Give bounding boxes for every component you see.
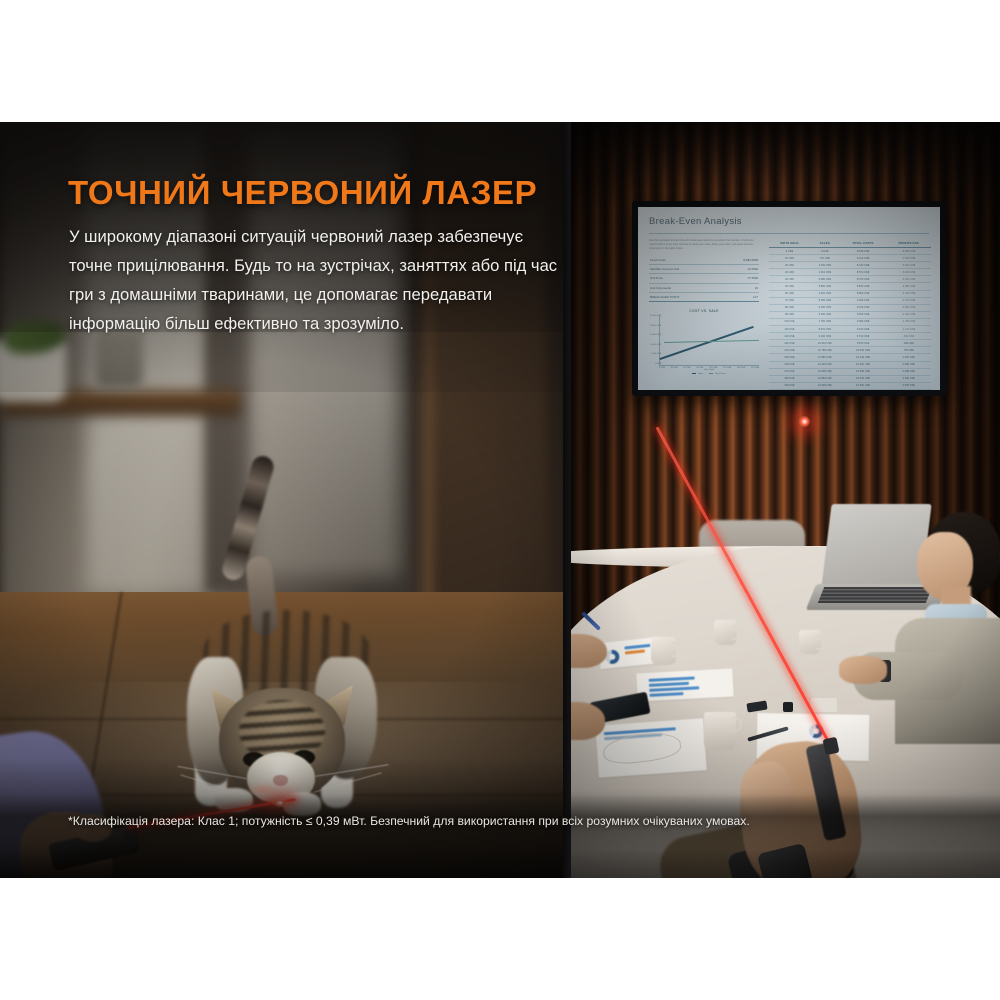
table-cell: -3 062 US$ [886, 304, 931, 311]
slide-intro-text: Use this calculator to determine the bre… [649, 239, 759, 251]
input-row: Unit Price 77 RSD [649, 274, 759, 283]
table-cell: 9 222 US$ [840, 304, 886, 311]
table-cell: 8 182 US$ [840, 248, 886, 255]
document-bar-sheet [636, 669, 733, 702]
table-cell: 130 US$ [769, 340, 810, 347]
coffee-mug [714, 620, 737, 645]
slide-divider [649, 233, 929, 234]
table-cell: 2 310 US$ [810, 269, 840, 276]
legend-item: Total Costs [709, 373, 725, 375]
table-cell: 0 US$ [769, 248, 810, 255]
input-label: BREAK-EVEN POINT [650, 295, 679, 299]
input-row: Fixed Costs 8,182 RSD [649, 256, 759, 265]
body-paragraph: У широкому діапазоні ситуацій червоний л… [69, 222, 561, 338]
break-even-inputs: Fixed Costs 8,182 RSD Variable Cost per … [649, 256, 759, 302]
table-cell: 10 782 US$ [840, 389, 886, 390]
x-tick: 90 US$ [696, 367, 703, 369]
eraser [811, 698, 837, 712]
table-cell: 120 US$ [769, 333, 810, 340]
table-row: 140 US$10 780 US$10 002 US$778 US$ [769, 347, 931, 354]
chart-plot-area [659, 315, 759, 366]
x-tick: 60 US$ [683, 367, 690, 369]
table-cell: -1 782 US$ [886, 318, 931, 325]
table-cell: 10 010 US$ [810, 340, 840, 347]
table-row: 170 US$13 090 US$10 392 US$2 698 US$ [769, 368, 931, 375]
table-cell: 200 US$ [769, 389, 810, 390]
table-cell: 6 930 US$ [810, 311, 840, 318]
input-row: Variable Cost per Unit 13 RSD [649, 265, 759, 274]
table-cell: 7 700 US$ [810, 318, 840, 325]
table-cell: 10 262 US$ [840, 361, 886, 368]
bar-chart-line [649, 676, 695, 681]
table-cell: 140 US$ [769, 347, 810, 354]
table-row: 160 US$12 320 US$10 262 US$2 058 US$ [769, 361, 931, 368]
table-cell: 90 US$ [769, 311, 810, 318]
table-header-row: UNITS SOLD SALES TOTAL COSTS PROFIT/LOSS [769, 239, 931, 248]
table-cell: 12 320 US$ [810, 361, 840, 368]
table-cell: 160 US$ [769, 361, 810, 368]
table-cell: -5 622 US$ [886, 276, 931, 283]
table-cell: -8 182 US$ [886, 248, 931, 255]
table-cell: 10 US$ [769, 255, 810, 262]
table-cell: 14 630 US$ [810, 382, 840, 389]
table-cell: -1 142 US$ [886, 326, 931, 333]
table-row: 0 US$0 US$8 182 US$-8 182 US$ [769, 248, 931, 255]
table-cell: -6 262 US$ [886, 269, 931, 276]
table-cell: 60 US$ [769, 290, 810, 297]
table-cell: 3 978 US$ [886, 382, 931, 389]
table-cell: 9 240 US$ [810, 333, 840, 340]
input-label: Unit Increments [650, 286, 671, 290]
table-cell: 180 US$ [769, 375, 810, 382]
table-cell: -7 542 US$ [886, 255, 931, 262]
screen-content: Break-Even Analysis Use this calculator … [638, 207, 940, 390]
coffee-mug [799, 630, 821, 654]
table-cell: 8 442 US$ [840, 262, 886, 269]
table-cell: 9 092 US$ [840, 297, 886, 304]
input-label: Variable Cost per Unit [650, 267, 679, 271]
table-cell: 10 652 US$ [840, 382, 886, 389]
table-cell: 150 US$ [769, 354, 810, 361]
input-value: 127 [753, 295, 758, 299]
page-root: Break-Even Analysis Use this calculator … [0, 0, 1000, 1000]
table-cell: 9 742 US$ [840, 333, 886, 340]
table-row: 20 US$1 540 US$8 442 US$-6 902 US$ [769, 262, 931, 269]
table-row: 80 US$6 160 US$9 222 US$-3 062 US$ [769, 304, 931, 311]
chart-x-label: Units Sold [659, 369, 759, 371]
series-line-total-costs [664, 340, 759, 343]
x-tick: 210 US$ [751, 367, 759, 369]
laser-emitter-tip [822, 737, 839, 756]
table-cell: 1 540 US$ [810, 262, 840, 269]
slide-title: Break-Even Analysis [649, 216, 929, 227]
x-tick: 30 US$ [671, 367, 678, 369]
bar-chart-line [624, 644, 650, 649]
table-body: 0 US$0 US$8 182 US$-8 182 US$10 US$770 U… [769, 248, 931, 391]
input-label: Unit Price [650, 276, 663, 280]
attendee-hands [839, 656, 887, 684]
table-cell: 9 482 US$ [840, 318, 886, 325]
input-value: 13 RSD [747, 267, 758, 271]
table-row: 40 US$3 080 US$8 702 US$-5 622 US$ [769, 276, 931, 283]
table-row: 190 US$14 630 US$10 652 US$3 978 US$ [769, 382, 931, 389]
bar-chart-line [649, 692, 683, 696]
x-tick: 150 US$ [723, 367, 731, 369]
table-cell: 8 470 US$ [810, 326, 840, 333]
table-cell: 3 850 US$ [810, 283, 840, 290]
table-cell: 8 312 US$ [840, 255, 886, 262]
x-tick: 0 US$ [659, 367, 665, 369]
legend-item: Sales [692, 373, 703, 375]
table-cell: 10 780 US$ [810, 347, 840, 354]
chart-title: COST VS. SALE [649, 309, 759, 313]
table-cell: 110 US$ [769, 326, 810, 333]
laser-safety-footnote: *Класифікація лазера: Клас 1; потужність… [68, 814, 948, 828]
break-even-table: UNITS SOLD SALES TOTAL COSTS PROFIT/LOSS… [769, 239, 931, 390]
col-total-costs: TOTAL COSTS [840, 239, 886, 248]
table-cell: 11 550 US$ [810, 354, 840, 361]
table-cell: 6 160 US$ [810, 304, 840, 311]
table-row: 90 US$6 930 US$9 352 US$-2 422 US$ [769, 311, 931, 318]
table-cell: -4 982 US$ [886, 283, 931, 290]
table-cell: -6 902 US$ [886, 262, 931, 269]
table-cell: 70 US$ [769, 297, 810, 304]
table-cell: 770 US$ [810, 255, 840, 262]
table-row: 50 US$3 850 US$8 832 US$-4 982 US$ [769, 283, 931, 290]
chart-legend: Sales Total Costs [659, 373, 759, 375]
table-cell: -4 342 US$ [886, 290, 931, 297]
table-cell: 10 522 US$ [840, 375, 886, 382]
presentation-screen: Break-Even Analysis Use this calculator … [632, 201, 946, 396]
series-line-sales [660, 326, 754, 360]
break-even-point-row: BREAK-EVEN POINT 127 [649, 293, 759, 302]
table-cell: -2 422 US$ [886, 311, 931, 318]
table-cell: 10 002 US$ [840, 347, 886, 354]
col-units-sold: UNITS SOLD [769, 239, 810, 248]
table-cell: 8 572 US$ [840, 269, 886, 276]
table-cell: 9 352 US$ [840, 311, 886, 318]
input-value: 77 RSD [747, 276, 758, 280]
table-row: 120 US$9 240 US$9 742 US$-502 US$ [769, 333, 931, 340]
table-cell: 8 832 US$ [840, 283, 886, 290]
table-cell: 15 400 US$ [810, 389, 840, 390]
table-cell: 9 612 US$ [840, 326, 886, 333]
ceiling-shadow [571, 122, 1000, 212]
table-cell: 8 962 US$ [840, 290, 886, 297]
table-cell: 13 090 US$ [810, 368, 840, 375]
x-tick: 180 US$ [737, 367, 745, 369]
table-row: 130 US$10 010 US$9 872 US$138 US$ [769, 340, 931, 347]
table-cell: 138 US$ [886, 340, 931, 347]
right-scene-meeting-room: Break-Even Analysis Use this calculator … [571, 122, 1000, 878]
input-label: Fixed Costs [650, 258, 666, 262]
bottom-shadow-overlay [571, 788, 1000, 878]
table-row: 200 US$15 400 US$10 782 US$4 618 US$ [769, 389, 931, 390]
bar-chart-line [625, 649, 645, 654]
table-cell: -3 702 US$ [886, 297, 931, 304]
table-row: 110 US$8 470 US$9 612 US$-1 142 US$ [769, 326, 931, 333]
table-row: 10 US$770 US$8 312 US$-7 542 US$ [769, 255, 931, 262]
table-cell: 0 US$ [810, 248, 840, 255]
input-value: 10 [755, 286, 758, 290]
small-clip [783, 702, 793, 712]
table-cell: -502 US$ [886, 333, 931, 340]
table-cell: 4 620 US$ [810, 290, 840, 297]
table-row: 100 US$7 700 US$9 482 US$-1 782 US$ [769, 318, 931, 325]
table-cell: 190 US$ [769, 382, 810, 389]
table-cell: 3 338 US$ [886, 375, 931, 382]
table-row: 180 US$13 860 US$10 522 US$3 338 US$ [769, 375, 931, 382]
table-cell: 4 618 US$ [886, 389, 931, 390]
table-row: 30 US$2 310 US$8 572 US$-6 262 US$ [769, 269, 931, 276]
table-cell: 778 US$ [886, 347, 931, 354]
table-cell: 10 132 US$ [840, 354, 886, 361]
coffee-mug [704, 712, 736, 750]
table-cell: 30 US$ [769, 269, 810, 276]
table-cell: 20 US$ [769, 262, 810, 269]
table-cell: 2 058 US$ [886, 361, 931, 368]
cost-vs-sale-chart: COST VS. SALE 25 000 US$ 20 000 US$ 15 0… [649, 309, 759, 375]
table-cell: 1 418 US$ [886, 354, 931, 361]
page-title: ТОЧНИЙ ЧЕРВОНИЙ ЛАЗЕР [68, 174, 537, 212]
table-cell: 5 390 US$ [810, 297, 840, 304]
table-row: 150 US$11 550 US$10 132 US$1 418 US$ [769, 354, 931, 361]
table-cell: 13 860 US$ [810, 375, 840, 382]
table-cell: 100 US$ [769, 318, 810, 325]
table-cell: 9 872 US$ [840, 340, 886, 347]
bar-chart-line [649, 686, 699, 691]
plant-pot-grey [95, 330, 143, 388]
input-row: Unit Increments 10 [649, 284, 759, 293]
hero-banner: Break-Even Analysis Use this calculator … [0, 122, 1000, 878]
table-cell: 3 080 US$ [810, 276, 840, 283]
slide: Break-Even Analysis Use this calculator … [638, 207, 940, 390]
table-row: 60 US$4 620 US$8 962 US$-4 342 US$ [769, 290, 931, 297]
table-cell: 50 US$ [769, 283, 810, 290]
laser-dot-on-screen [798, 415, 811, 428]
table-cell: 2 698 US$ [886, 368, 931, 375]
attendee-woman [901, 514, 1000, 744]
table-cell: 170 US$ [769, 368, 810, 375]
input-value: 8,182 RSD [743, 258, 758, 262]
col-sales: SALES [810, 239, 840, 248]
table-cell: 8 702 US$ [840, 276, 886, 283]
table-cell: 40 US$ [769, 276, 810, 283]
bar-chart-line [649, 682, 689, 687]
table-cell: 80 US$ [769, 304, 810, 311]
table-cell: 10 392 US$ [840, 368, 886, 375]
table-row: 70 US$5 390 US$9 092 US$-3 702 US$ [769, 297, 931, 304]
coffee-mug [651, 637, 676, 665]
col-profit-loss: PROFIT/LOSS [886, 239, 931, 248]
